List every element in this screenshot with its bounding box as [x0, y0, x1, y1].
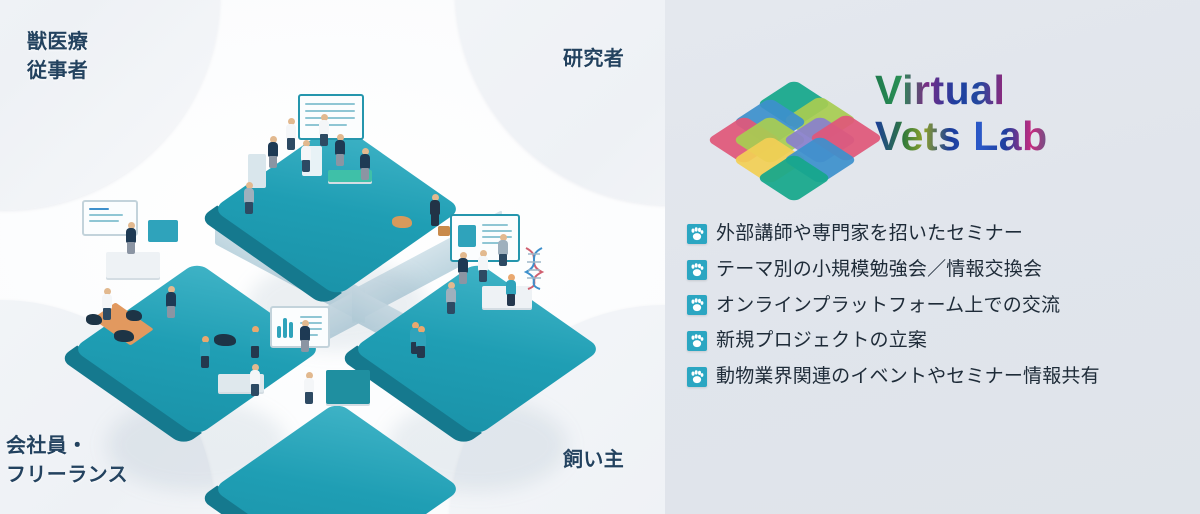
info-panel: Virtual Vets Lab 外部講師や専門家を招いたセミナーテーマ別の小規… — [665, 0, 1200, 514]
paw-icon — [687, 331, 707, 351]
feature-label: テーマ別の小規模勉強会／情報交換会 — [716, 258, 1042, 282]
dog-silhouette — [214, 334, 236, 346]
figure-attendee — [456, 252, 470, 286]
diamond-tiles-logo-mark — [720, 82, 860, 182]
figure-walking — [242, 182, 256, 216]
figure-seated — [504, 274, 518, 304]
feature-label: 新規プロジェクトの立案 — [716, 329, 927, 353]
figure-owner — [100, 288, 114, 318]
feature-item: 外部講師や専門家を招いたセミナー — [687, 222, 1197, 246]
figure-researcher — [266, 136, 280, 170]
feature-item: オンラインプラットフォーム上での交流 — [687, 294, 1197, 318]
feature-label: 動物業界関連のイベントやセミナー情報共有 — [716, 365, 1100, 389]
feature-list: 外部講師や専門家を招いたセミナーテーマ別の小規模勉強会／情報交換会オンラインプラ… — [687, 222, 1197, 401]
feature-item: 新規プロジェクトの立案 — [687, 329, 1197, 353]
feature-label: オンラインプラットフォーム上での交流 — [716, 294, 1060, 318]
figure-vet — [248, 364, 262, 396]
feature-item: テーマ別の小規模勉強会／情報交換会 — [687, 258, 1197, 282]
figure-vet — [302, 372, 316, 410]
figure-researcher — [333, 134, 347, 168]
figure-walking — [248, 326, 262, 360]
figure-presenter — [476, 250, 490, 284]
promo-banner: 獣医療 従事者 研究者 会社員・ フリーランス 飼い主 — [0, 0, 1200, 514]
dog-silhouette — [86, 314, 102, 325]
figure-walking — [198, 336, 212, 370]
figure-researcher — [358, 148, 372, 182]
paw-icon — [687, 367, 707, 387]
dna-helix-icon — [522, 246, 548, 290]
figure-scientist — [317, 114, 331, 148]
brand-line-2: Vets Lab — [875, 116, 1165, 158]
figure-seated — [444, 282, 458, 312]
figure-receptionist — [124, 222, 138, 256]
figure-carrying — [298, 320, 312, 356]
brand-line-1: Virtual — [875, 70, 1165, 112]
xray-board — [298, 94, 364, 140]
dog-silhouette — [126, 310, 142, 321]
paw-icon — [687, 295, 707, 315]
dog-silhouette — [114, 330, 134, 342]
figure-walking — [414, 326, 428, 360]
illustration-panel: 獣医療 従事者 研究者 会社員・ フリーランス 飼い主 — [0, 0, 665, 514]
figure-attendee — [496, 234, 510, 268]
label-researchers: 研究者 — [563, 45, 624, 74]
monitor — [148, 220, 178, 242]
figure-owner — [164, 286, 178, 316]
isometric-scene — [52, 74, 622, 466]
brand-logo: Virtual Vets Lab — [705, 70, 1165, 190]
figure-scientist — [284, 118, 298, 152]
feature-item: 動物業界関連のイベントやセミナー情報共有 — [687, 365, 1197, 389]
feature-label: 外部講師や専門家を招いたセミナー — [716, 222, 1023, 246]
brand-wordmark: Virtual Vets Lab — [875, 70, 1165, 158]
paw-icon — [687, 224, 707, 244]
figure-researcher — [299, 140, 313, 174]
dog-silhouette — [392, 216, 412, 228]
paw-icon — [687, 260, 707, 280]
briefcase — [438, 226, 450, 236]
office-cabinet — [326, 370, 370, 404]
